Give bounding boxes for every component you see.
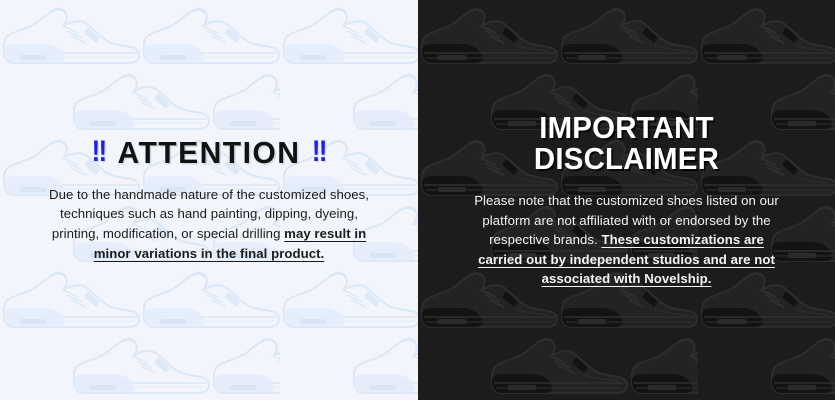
disclaimer-body-text: Please note that the customized shoes li…: [467, 191, 787, 288]
disclaimer-panel: IMPORTANT DISCLAIMER Please note that th…: [418, 0, 835, 400]
attention-heading-word: ATTENTION: [118, 137, 301, 168]
attention-panel: ‼ ATTENTION ‼ Due to the handmade nature…: [0, 0, 418, 400]
disclaimer-heading: IMPORTANT DISCLAIMER: [453, 112, 800, 176]
attention-content: ‼ ATTENTION ‼ Due to the handmade nature…: [0, 137, 418, 263]
disclaimer-heading-line-1: IMPORTANT: [453, 112, 800, 144]
disclaimer-content: IMPORTANT DISCLAIMER Please note that th…: [418, 112, 835, 289]
double-exclamation-right-icon: ‼: [312, 137, 327, 167]
disclaimer-heading-line-2: DISCLAIMER: [453, 143, 800, 175]
attention-body-text: Due to the handmade nature of the custom…: [44, 185, 374, 263]
customization-notice-banner: ‼ ATTENTION ‼ Due to the handmade nature…: [0, 0, 835, 400]
double-exclamation-left-icon: ‼: [91, 137, 106, 167]
attention-heading: ‼ ATTENTION ‼: [31, 137, 386, 168]
